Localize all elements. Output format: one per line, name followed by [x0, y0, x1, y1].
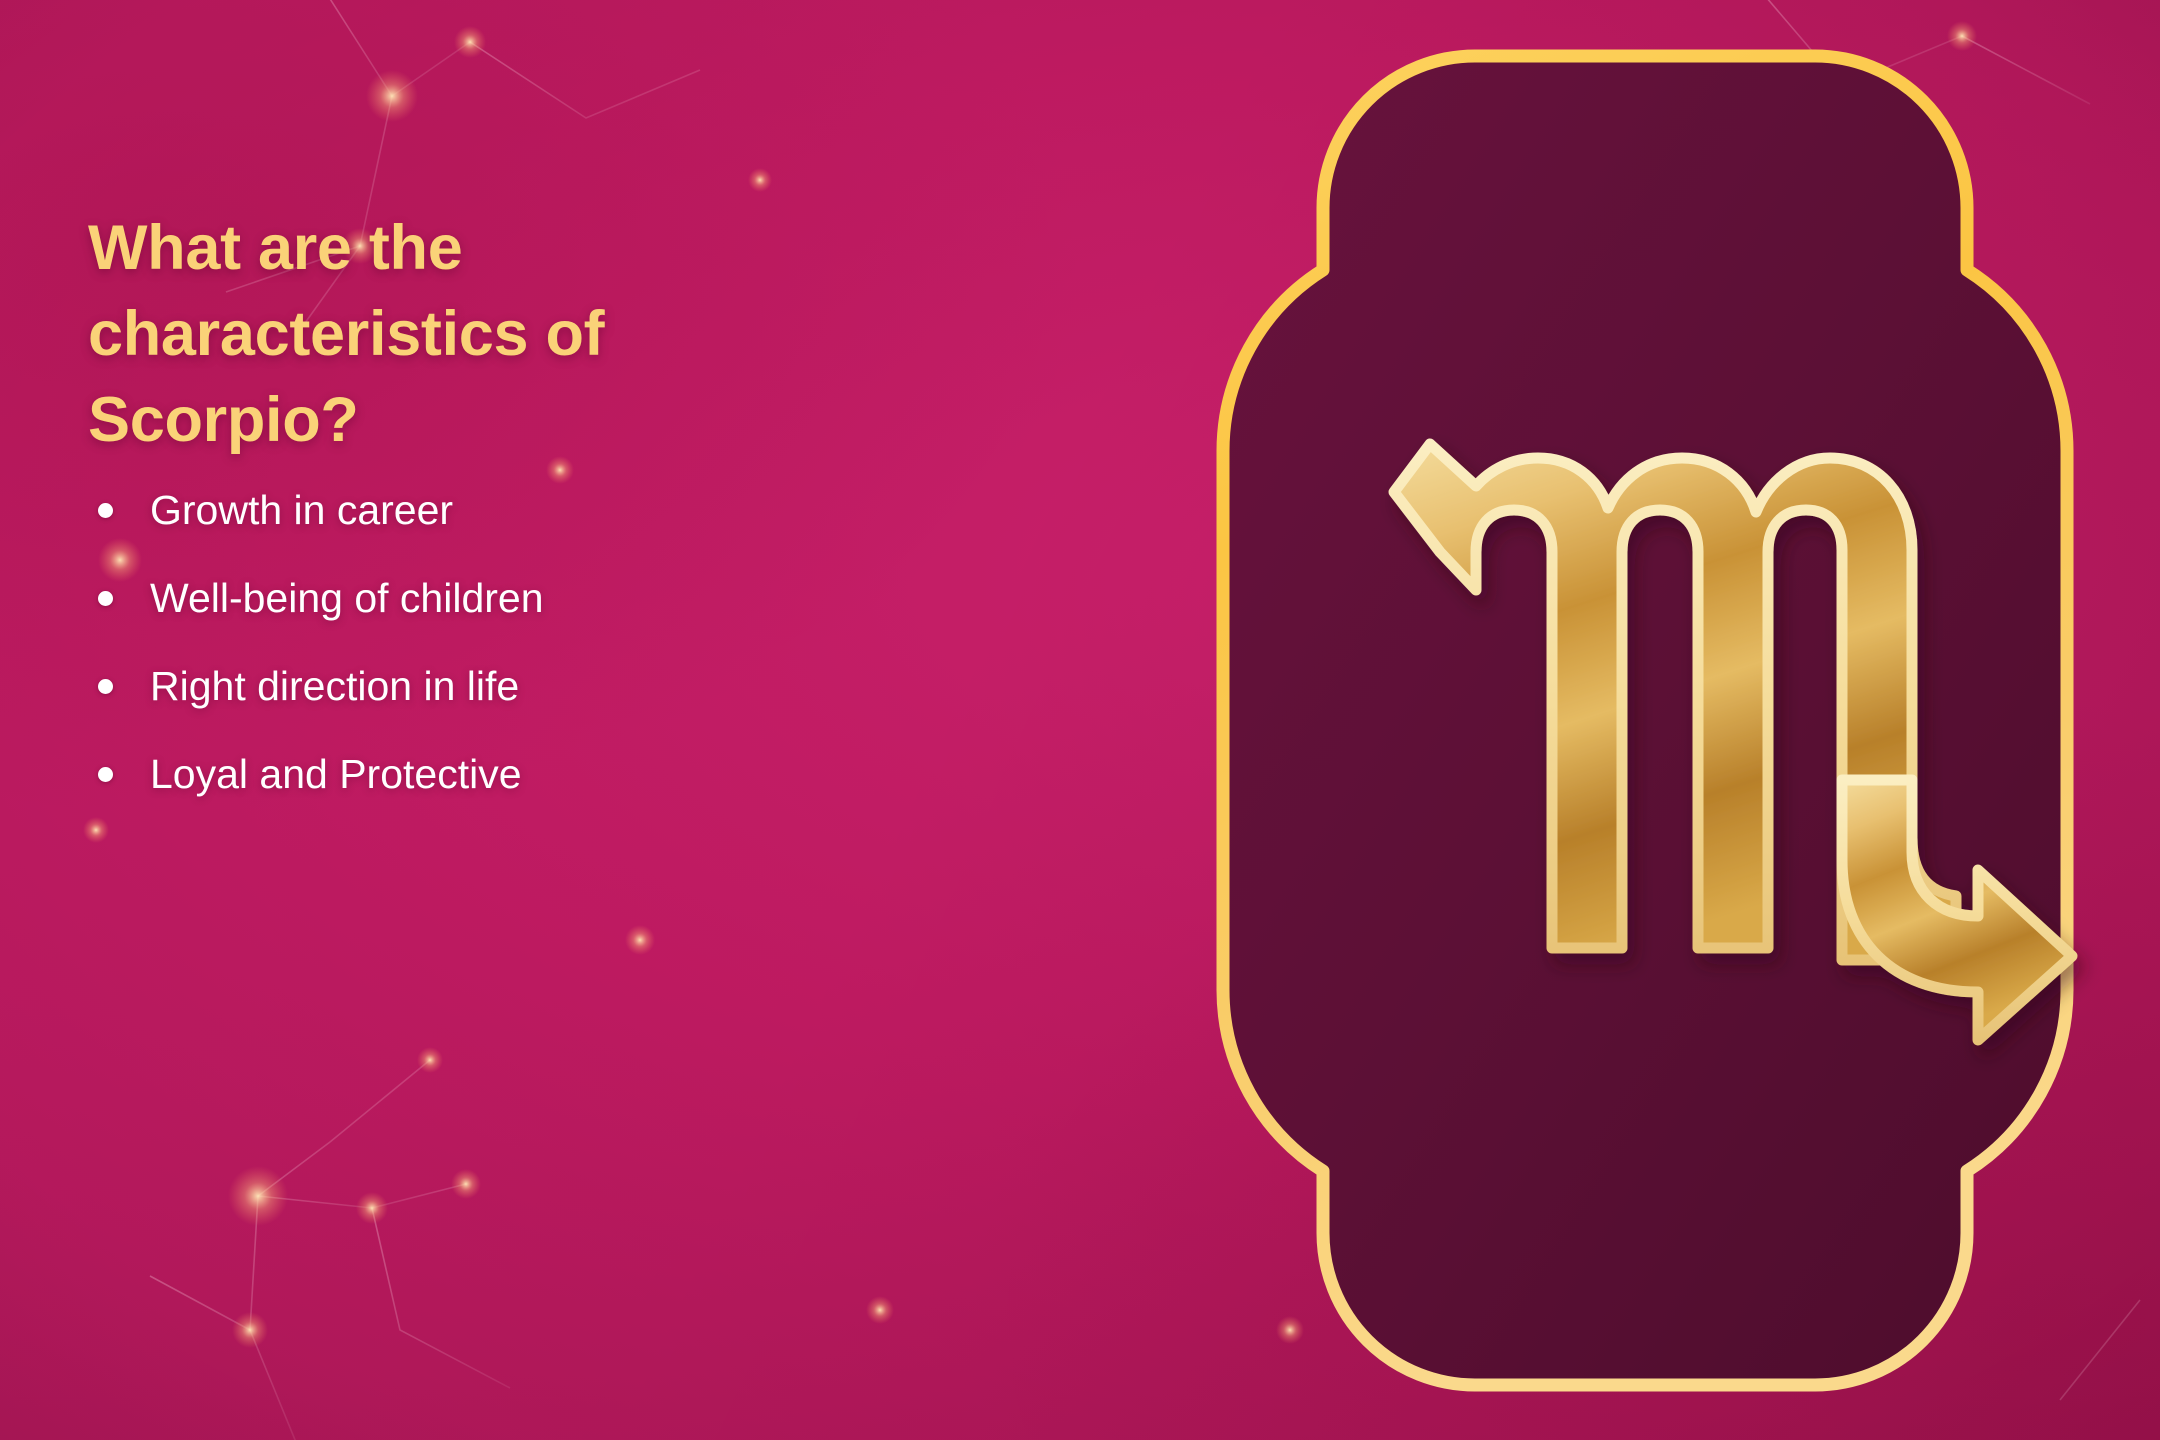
characteristics-list: Growth in career Well-being of children … [88, 466, 788, 818]
bullet-dot-icon [98, 503, 113, 518]
bullet-dot-icon [98, 679, 113, 694]
list-item: Right direction in life [88, 642, 788, 730]
text-column: What are the characteristics of Scorpio?… [0, 0, 860, 1440]
zodiac-symbol-holder [1215, 48, 2075, 1393]
list-item-label: Growth in career [150, 490, 453, 531]
list-item-label: Loyal and Protective [150, 754, 522, 795]
bullet-dot-icon [98, 767, 113, 782]
page-title: What are the characteristics of Scorpio? [88, 206, 728, 463]
list-item-label: Well-being of children [150, 578, 544, 619]
page-title-line-1: What are the [88, 206, 728, 292]
slide-canvas: What are the characteristics of Scorpio?… [0, 0, 2160, 1440]
zodiac-card [1215, 48, 2075, 1393]
list-item: Growth in career [88, 466, 788, 554]
list-item: Loyal and Protective [88, 730, 788, 818]
scorpio-zodiac-icon [1372, 400, 1932, 1020]
list-item: Well-being of children [88, 554, 788, 642]
bullet-dot-icon [98, 591, 113, 606]
list-item-label: Right direction in life [150, 666, 519, 707]
page-title-line-3: Scorpio? [88, 378, 728, 464]
page-title-line-2: characteristics of [88, 292, 728, 378]
